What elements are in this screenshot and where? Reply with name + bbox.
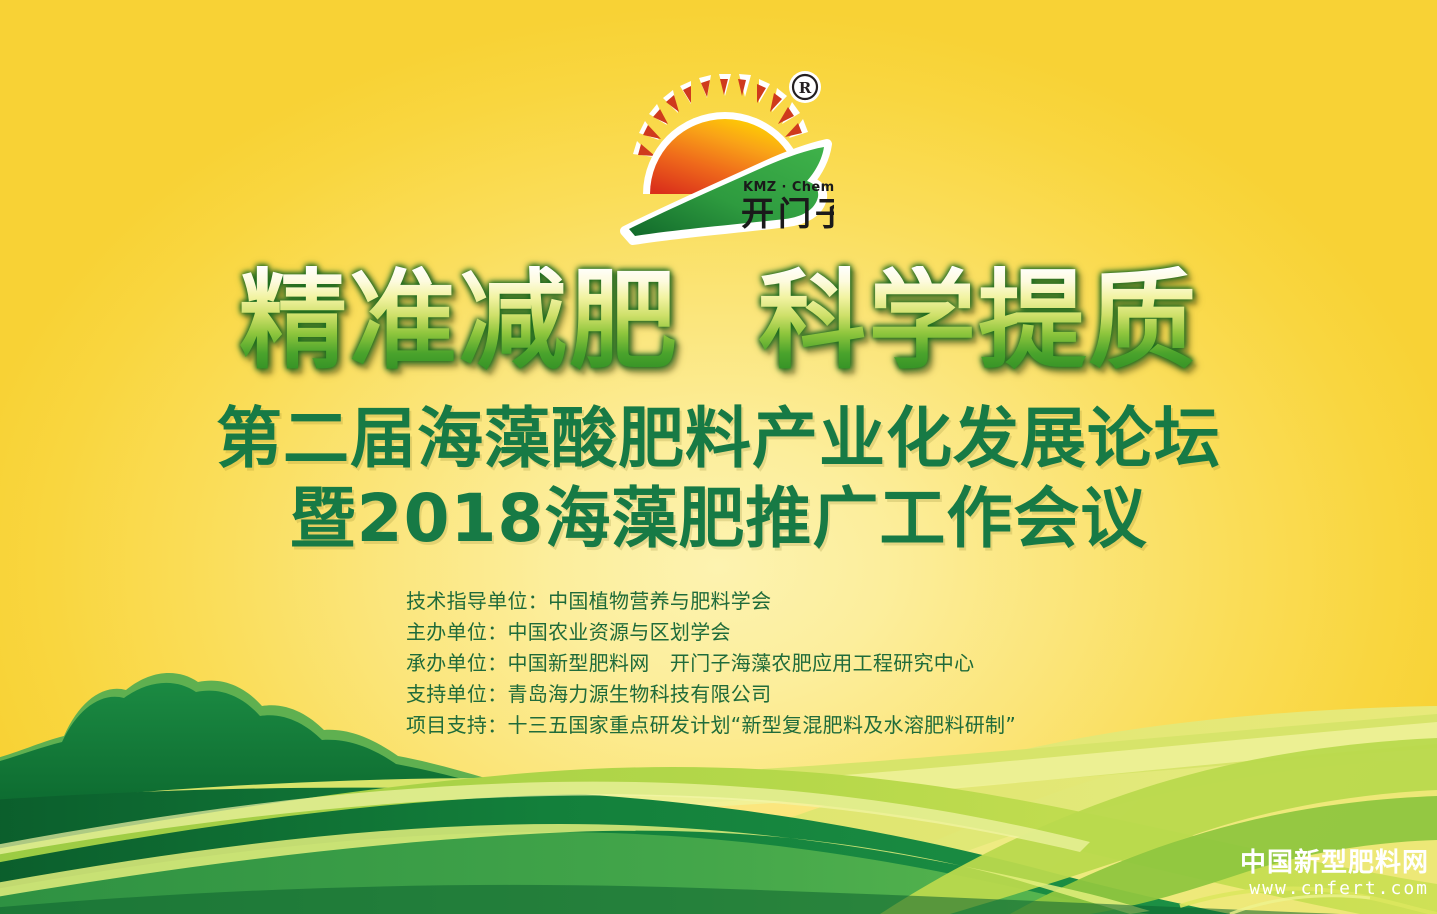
subtitle-line-1: 第二届海藻酸肥料产业化发展论坛	[0, 404, 1437, 474]
subtitle-line-2: 暨2018海藻肥推广工作会议	[0, 484, 1437, 554]
watermark-site-name: 中国新型肥料网	[1240, 848, 1429, 878]
page-title: 精准减肥 科学提质	[0, 266, 1437, 378]
info-line-host: 主办单位：中国农业资源与区划学会	[406, 617, 1166, 648]
registered-mark-icon: R	[789, 71, 821, 103]
logo-brand-en-text: KMZ · Chemical	[743, 180, 834, 195]
svg-text:R: R	[799, 79, 812, 97]
watermark-site-url: www.cnfert.com	[1240, 878, 1429, 900]
organiser-info-block: 技术指导单位：中国植物营养与肥料学会 主办单位：中国农业资源与区划学会 承办单位…	[406, 586, 1166, 741]
info-line-organiser: 承办单位：中国新型肥料网 开门子海藻农肥应用工程研究中心	[406, 648, 1166, 679]
info-line-technical-guidance: 技术指导单位：中国植物营养与肥料学会	[406, 586, 1166, 617]
info-line-project-support: 项目支持：十三五国家重点研发计划“新型复混肥料及水溶肥料研制”	[406, 710, 1166, 741]
company-logo: R KMZ · Chemical 开门子	[619, 62, 834, 247]
info-line-supporter: 支持单位：青岛海力源生物科技有限公司	[406, 679, 1166, 710]
poster-canvas: R KMZ · Chemical 开门子 精准减肥 科学提质 第二届海藻酸肥料产…	[0, 0, 1437, 914]
logo-brand-cn-text: 开门子	[741, 194, 834, 233]
site-watermark: 中国新型肥料网 www.cnfert.com	[1240, 848, 1429, 900]
